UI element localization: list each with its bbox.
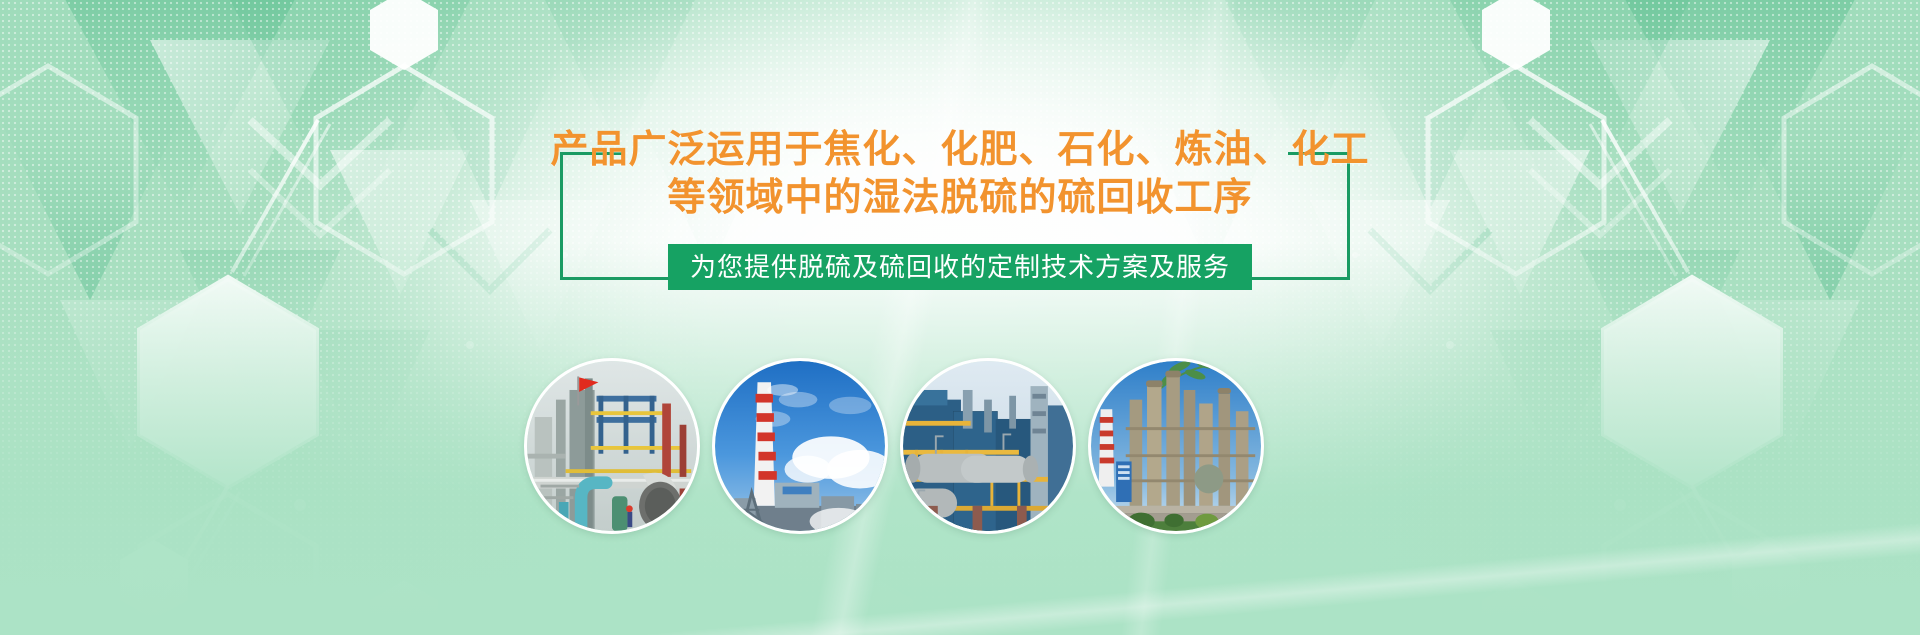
photo-circle-4 bbox=[1088, 358, 1264, 534]
headline-line-1: 产品广泛运用于焦化、化肥、石化、炼油、化工 bbox=[0, 126, 1920, 174]
photo-chimney-stack-plant bbox=[715, 361, 885, 531]
photo-refinery-towers bbox=[1091, 361, 1261, 531]
photo-circle-3 bbox=[900, 358, 1076, 534]
headline: 产品广泛运用于焦化、化肥、石化、炼油、化工 等领域中的湿法脱硫的硫回收工序 bbox=[0, 126, 1920, 222]
subtitle-ribbon: 为您提供脱硫及硫回收的定制技术方案及服务 bbox=[668, 244, 1252, 290]
photo-sulfur-recovery-vessels bbox=[903, 361, 1073, 531]
promo-banner: 产品广泛运用于焦化、化肥、石化、炼油、化工 等领域中的湿法脱硫的硫回收工序 为您… bbox=[0, 0, 1920, 635]
photo-circle-row bbox=[0, 358, 1920, 538]
photo-circle-2 bbox=[712, 358, 888, 534]
photo-desulfurization-plant-piping bbox=[527, 361, 697, 531]
headline-line-2: 等领域中的湿法脱硫的硫回收工序 bbox=[0, 174, 1920, 222]
banner-content: 产品广泛运用于焦化、化肥、石化、炼油、化工 等领域中的湿法脱硫的硫回收工序 为您… bbox=[0, 0, 1920, 635]
photo-circle-1 bbox=[524, 358, 700, 534]
